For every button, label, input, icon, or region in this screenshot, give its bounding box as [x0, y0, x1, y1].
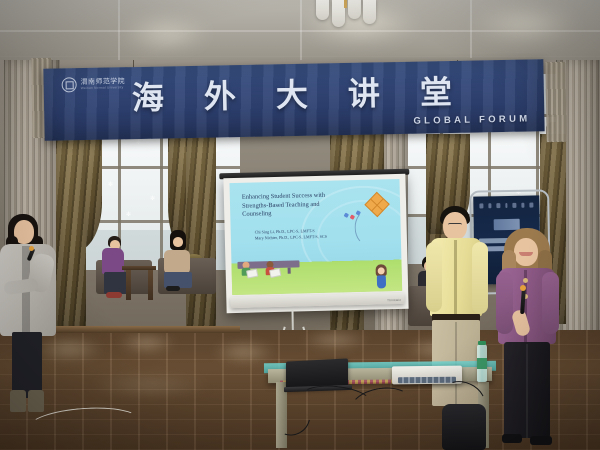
bottle-cap	[478, 341, 486, 345]
presentation-slide: Enhancing Student Success with Strengths…	[229, 179, 402, 295]
university-name-en: Weinan Normal University	[81, 85, 125, 91]
woman-sandal-left	[502, 434, 522, 443]
projector-ports	[398, 377, 456, 384]
woman-sandal-right	[530, 436, 552, 445]
bottle-label	[477, 358, 487, 369]
backpack[interactable]	[442, 404, 486, 450]
university-logo: 渭南师范学院 Weinan Normal University	[62, 76, 126, 92]
pendant-lamp-icon	[316, 0, 378, 20]
banner-char-2: 外	[204, 79, 237, 114]
curtain-left	[56, 134, 86, 334]
banner-char-3: 大	[276, 78, 309, 113]
photo-scene: ✻ ✻ ✻ ✻ ✻ ✻ ✻ ✻ ✻ ✻ ✻ ✻ ✻ ✻	[0, 0, 600, 450]
screen-brand-tag: Thinkwin	[387, 298, 401, 302]
event-banner: 渭南师范学院 Weinan Normal University 海 外 大 讲 …	[43, 59, 544, 141]
projection-screen: Enhancing Student Success with Strengths…	[223, 174, 408, 313]
slide-title: Enhancing Student Success with Strengths…	[242, 191, 351, 219]
banner-char-1: 海	[132, 80, 165, 115]
poster-header-text	[479, 203, 533, 209]
university-seal-icon	[62, 77, 77, 92]
banner-headline: 海 外 大 讲 堂	[132, 75, 453, 115]
banner-char-4: 讲	[348, 76, 381, 111]
curtain-mid-left	[186, 132, 216, 338]
banner-char-5: 堂	[420, 75, 453, 110]
banner-subtitle: GLOBAL FORUM	[413, 113, 530, 126]
poster-logo	[494, 219, 520, 230]
